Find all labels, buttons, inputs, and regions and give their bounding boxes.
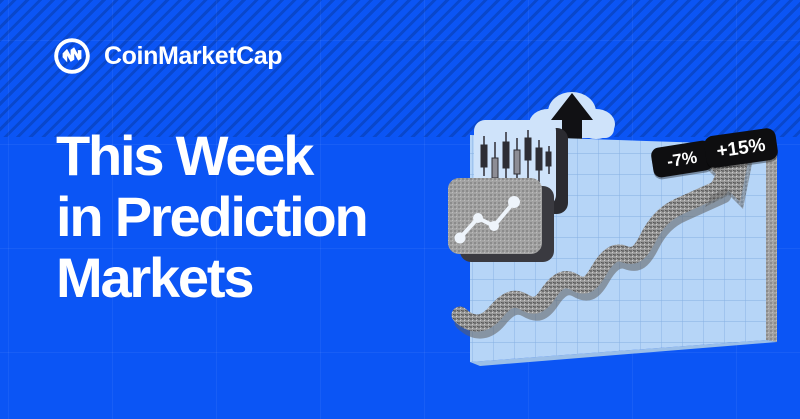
headline-line-3: Markets xyxy=(56,247,367,308)
percent-badge-positive: +15% xyxy=(703,127,779,169)
coinmarketcap-circle-m-icon xyxy=(52,36,92,76)
page-title: This Week in Prediction Markets xyxy=(56,125,367,308)
headline-line-1: This Week xyxy=(56,125,367,186)
cmc-social-banner: CoinMarketCap This Week in Prediction Ma… xyxy=(0,0,800,419)
3d-growth-chart-illustration: -7% +15% xyxy=(430,90,790,380)
logo-wordmark: CoinMarketCap xyxy=(104,44,282,69)
coinmarketcap-logo[interactable]: CoinMarketCap xyxy=(52,36,282,76)
headline-line-2: in Prediction xyxy=(56,186,367,247)
percent-badge-group: -7% +15% xyxy=(430,90,790,380)
